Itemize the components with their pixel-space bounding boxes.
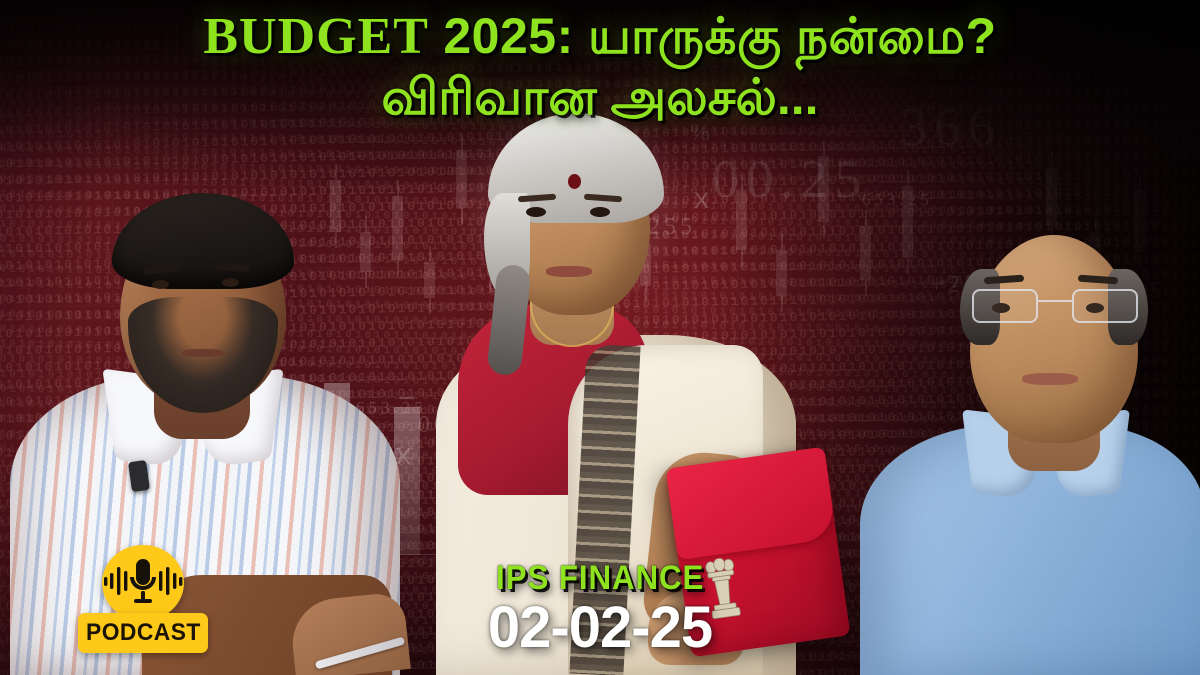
mouth (182, 349, 224, 357)
ashoka-pillar-emblem (699, 556, 747, 623)
podcast-label: PODCAST (86, 619, 201, 647)
thumbnail-canvas: 1010101010101010101010101010101010101010… (0, 0, 1200, 675)
eye-left (526, 207, 546, 217)
eye-right (590, 207, 610, 217)
eye-left (152, 280, 169, 289)
eye-right (222, 278, 239, 287)
lens-right (1072, 289, 1138, 323)
mouth (1022, 373, 1078, 385)
badge-pill: PODCAST (78, 613, 208, 653)
mouth (546, 266, 592, 277)
eyeglasses-icon (968, 289, 1142, 323)
podcast-badge: PODCAST (78, 545, 208, 653)
bindi (568, 174, 581, 189)
guest-male-blue-shirt (850, 175, 1200, 675)
lens-left (972, 289, 1038, 323)
microphone-icon (102, 555, 184, 613)
glasses-bridge (1038, 300, 1072, 302)
red-budget-briefcase (666, 447, 851, 657)
hair (112, 193, 294, 289)
